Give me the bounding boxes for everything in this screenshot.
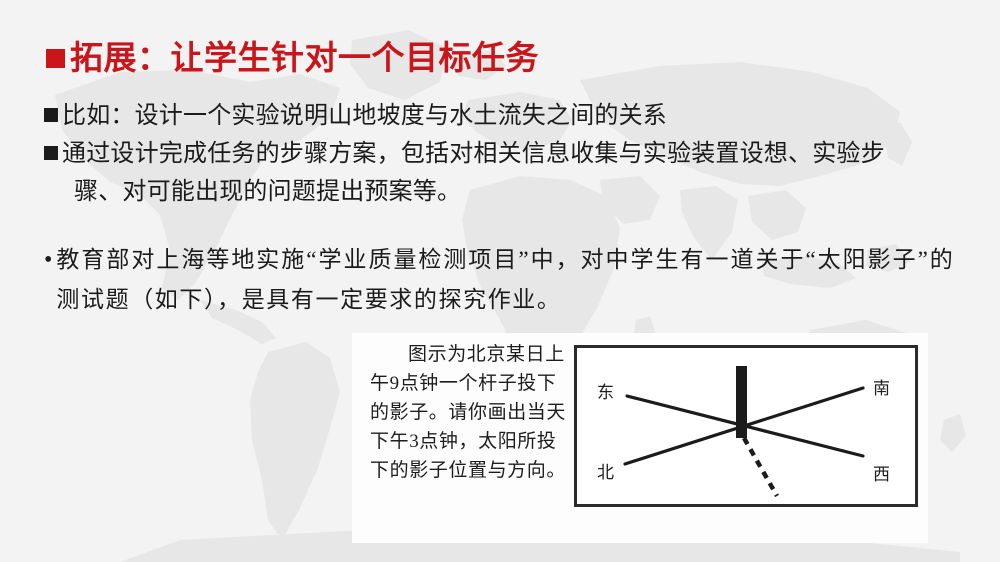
- bullet-text: 通过设计完成任务的步骤方案，包括对相关信息收集与实验装置设想、实验步: [62, 137, 885, 171]
- question-text: 图示为北京某日上午9点钟一个杆子投下的影子。请你画出当天下午3点钟，太阳所投下的…: [370, 341, 572, 485]
- slide-canvas: 拓展：让学生针对一个目标任务 比如：设计一个实验说明山地坡度与水土流失之间的关系…: [0, 0, 1000, 562]
- bullet-square-icon: [44, 146, 58, 160]
- bullet-text-wrap: 骤、对可能出现的问题提出预案等。: [44, 175, 461, 209]
- direction-label-south: 南: [873, 374, 890, 399]
- title-text: 拓展：让学生针对一个目标任务: [70, 40, 539, 76]
- list-item: 通过设计完成任务的步骤方案，包括对相关信息收集与实验装置设想、实验步: [44, 137, 964, 171]
- bullet-text: 比如：设计一个实验说明山地坡度与水土流失之间的关系: [62, 99, 667, 133]
- bullet-square-icon: [44, 108, 58, 122]
- direction-label-west: 西: [873, 460, 890, 485]
- shadow-diagram-svg: [577, 348, 915, 504]
- exam-question-image: 图示为北京某日上午9点钟一个杆子投下的影子。请你画出当天下午3点钟，太阳所投下的…: [352, 333, 928, 543]
- bullet-dot-icon: •: [44, 240, 52, 281]
- list-item: 比如：设计一个实验说明山地坡度与水土流失之间的关系: [44, 99, 964, 133]
- exam-question-inner: 图示为北京某日上午9点钟一个杆子投下的影子。请你画出当天下午3点钟，太阳所投下的…: [352, 333, 928, 543]
- page-title: 拓展：让学生针对一个目标任务: [46, 40, 539, 76]
- direction-label-east: 东: [597, 378, 614, 403]
- serif-paragraph-text: 教育部对上海等地实施“学业质量检测项目”中，对中学生有一道关于“太阳影子”的测试…: [56, 240, 954, 319]
- shadow-diagram: 东 南 北 西: [574, 345, 918, 507]
- direction-label-north: 北: [597, 458, 614, 483]
- title-bullet-square-icon: [46, 49, 65, 68]
- list-item-continuation: 骤、对可能出现的问题提出预案等。: [44, 175, 964, 209]
- serif-paragraph: • 教育部对上海等地实施“学业质量检测项目”中，对中学生有一道关于“太阳影子”的…: [44, 240, 974, 319]
- bullet-list: 比如：设计一个实验说明山地坡度与水土流失之间的关系 通过设计完成任务的步骤方案，…: [44, 99, 964, 213]
